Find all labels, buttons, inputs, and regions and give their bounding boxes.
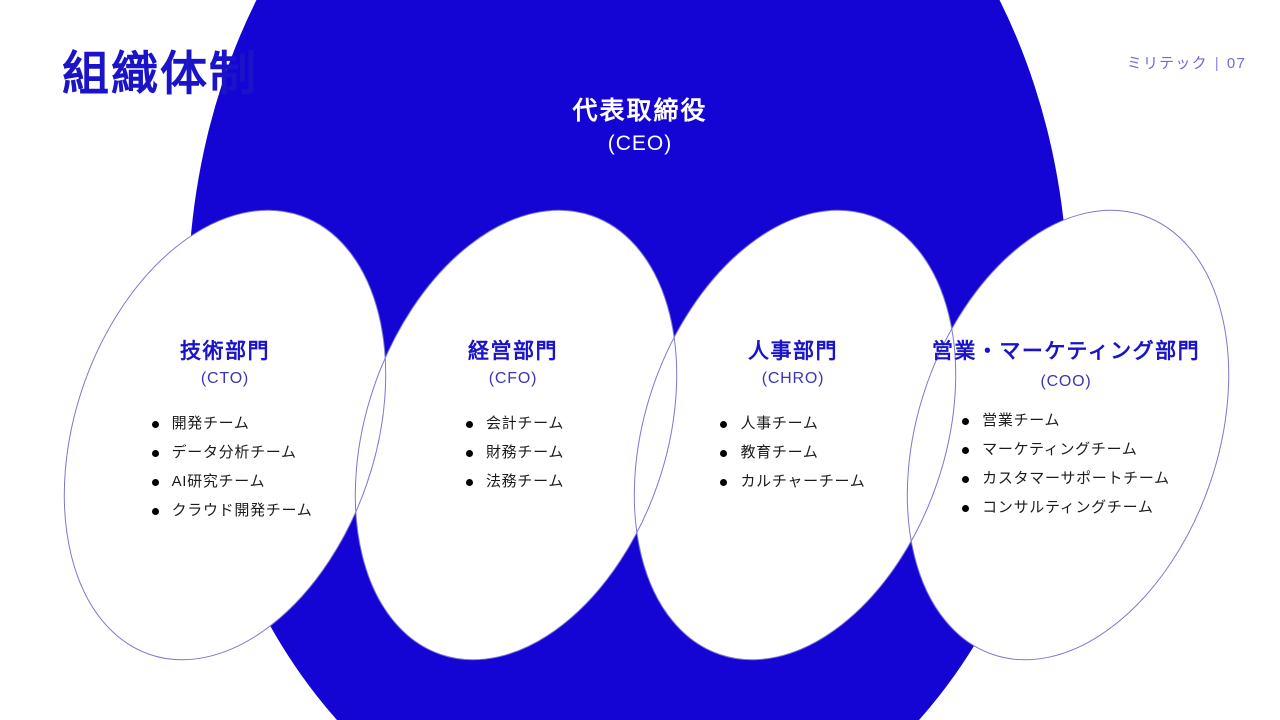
bullet-icon [152, 421, 159, 428]
team-name: マーケティングチーム [982, 441, 1137, 458]
department-abbreviation: (CFO) [388, 368, 638, 390]
list-item: 人事チーム [720, 416, 865, 431]
team-name: カスタマーサポートチーム [982, 470, 1170, 487]
team-name: 人事チーム [740, 415, 818, 432]
bullet-icon [152, 479, 159, 486]
bullet-icon [466, 450, 473, 457]
list-item: 法務チーム [466, 474, 564, 489]
team-name: 教育チーム [740, 444, 818, 461]
team-name: 財務チーム [486, 444, 564, 461]
list-item: カルチャーチーム [720, 474, 865, 489]
department-title: 技術部門 [95, 338, 355, 366]
bullet-icon [720, 421, 727, 428]
brand-page-meta: ミリテック|07 [1127, 52, 1246, 73]
department-team-list: 会計チーム 財務チーム 法務チーム [466, 416, 564, 489]
department-team-list: 人事チーム 教育チーム カルチャーチーム [720, 416, 865, 489]
list-item: 会計チーム [466, 416, 564, 431]
department-team-list: 開発チーム データ分析チーム AI研究チーム クラウド開発チーム [152, 416, 313, 518]
department-abbreviation: (COO) [1040, 373, 1091, 390]
department-title-text: 人事部門 [748, 340, 838, 363]
bullet-icon [962, 476, 969, 483]
department-abbreviation: (CTO) [95, 368, 355, 390]
list-item: コンサルティングチーム [962, 500, 1170, 515]
bullet-icon [962, 505, 969, 512]
department-node-hr: 人事部門 (CHRO) 人事チーム 教育チーム カルチャーチーム [668, 338, 918, 491]
ceo-abbreviation: (CEO) [440, 130, 840, 158]
team-name: 会計チーム [486, 415, 564, 432]
bullet-icon [720, 450, 727, 457]
list-item: 開発チーム [152, 416, 313, 431]
department-node-sales-marketing: 営業・マーケティング部門(COO) 営業チーム マーケティングチーム カスタマー… [930, 338, 1202, 517]
department-node-technology: 技術部門 (CTO) 開発チーム データ分析チーム AI研究チーム クラウド開発… [95, 338, 355, 520]
list-item: 財務チーム [466, 445, 564, 460]
meta-separator: | [1215, 55, 1220, 72]
brand-name: ミリテック [1127, 55, 1208, 72]
ceo-title: 代表取締役 [440, 96, 840, 127]
department-team-list: 営業チーム マーケティングチーム カスタマーサポートチーム コンサルティングチー… [962, 413, 1170, 515]
bullet-icon [152, 508, 159, 515]
list-item: カスタマーサポートチーム [962, 471, 1170, 486]
list-item: クラウド開発チーム [152, 503, 313, 518]
department-node-management: 経営部門 (CFO) 会計チーム 財務チーム 法務チーム [388, 338, 638, 491]
team-name: 開発チーム [172, 415, 250, 432]
slide-canvas: 組織体制 ミリテック|07 代表取締役 (CEO) 技術部門 (CTO) 開発チ… [0, 0, 1280, 720]
department-title: 経営部門 [388, 338, 638, 366]
team-name: AI研究チーム [172, 473, 266, 490]
department-title-text: 技術部門 [180, 340, 270, 363]
department-abbreviation: (CHRO) [668, 368, 918, 390]
bullet-icon [720, 479, 727, 486]
ceo-node: 代表取締役 (CEO) [440, 96, 840, 159]
page-title: 組織体制 [62, 48, 258, 100]
list-item: 教育チーム [720, 445, 865, 460]
team-name: カルチャーチーム [740, 473, 865, 490]
team-name: 営業チーム [982, 412, 1060, 429]
team-name: クラウド開発チーム [172, 502, 313, 519]
bullet-icon [962, 447, 969, 454]
page-number: 07 [1227, 55, 1246, 72]
list-item: データ分析チーム [152, 445, 313, 460]
list-item: AI研究チーム [152, 474, 313, 489]
bullet-icon [466, 421, 473, 428]
list-item: マーケティングチーム [962, 442, 1170, 457]
bullet-icon [962, 418, 969, 425]
bullet-icon [466, 479, 473, 486]
department-title-text: 経営部門 [468, 340, 558, 363]
department-title: 営業・マーケティング部門(COO) [930, 338, 1202, 393]
department-title-text: 営業・マーケティング部門 [932, 340, 1200, 363]
list-item: 営業チーム [962, 413, 1170, 428]
team-name: コンサルティングチーム [982, 499, 1153, 516]
team-name: データ分析チーム [172, 444, 297, 461]
bullet-icon [152, 450, 159, 457]
team-name: 法務チーム [486, 473, 564, 490]
department-title: 人事部門 [668, 338, 918, 366]
